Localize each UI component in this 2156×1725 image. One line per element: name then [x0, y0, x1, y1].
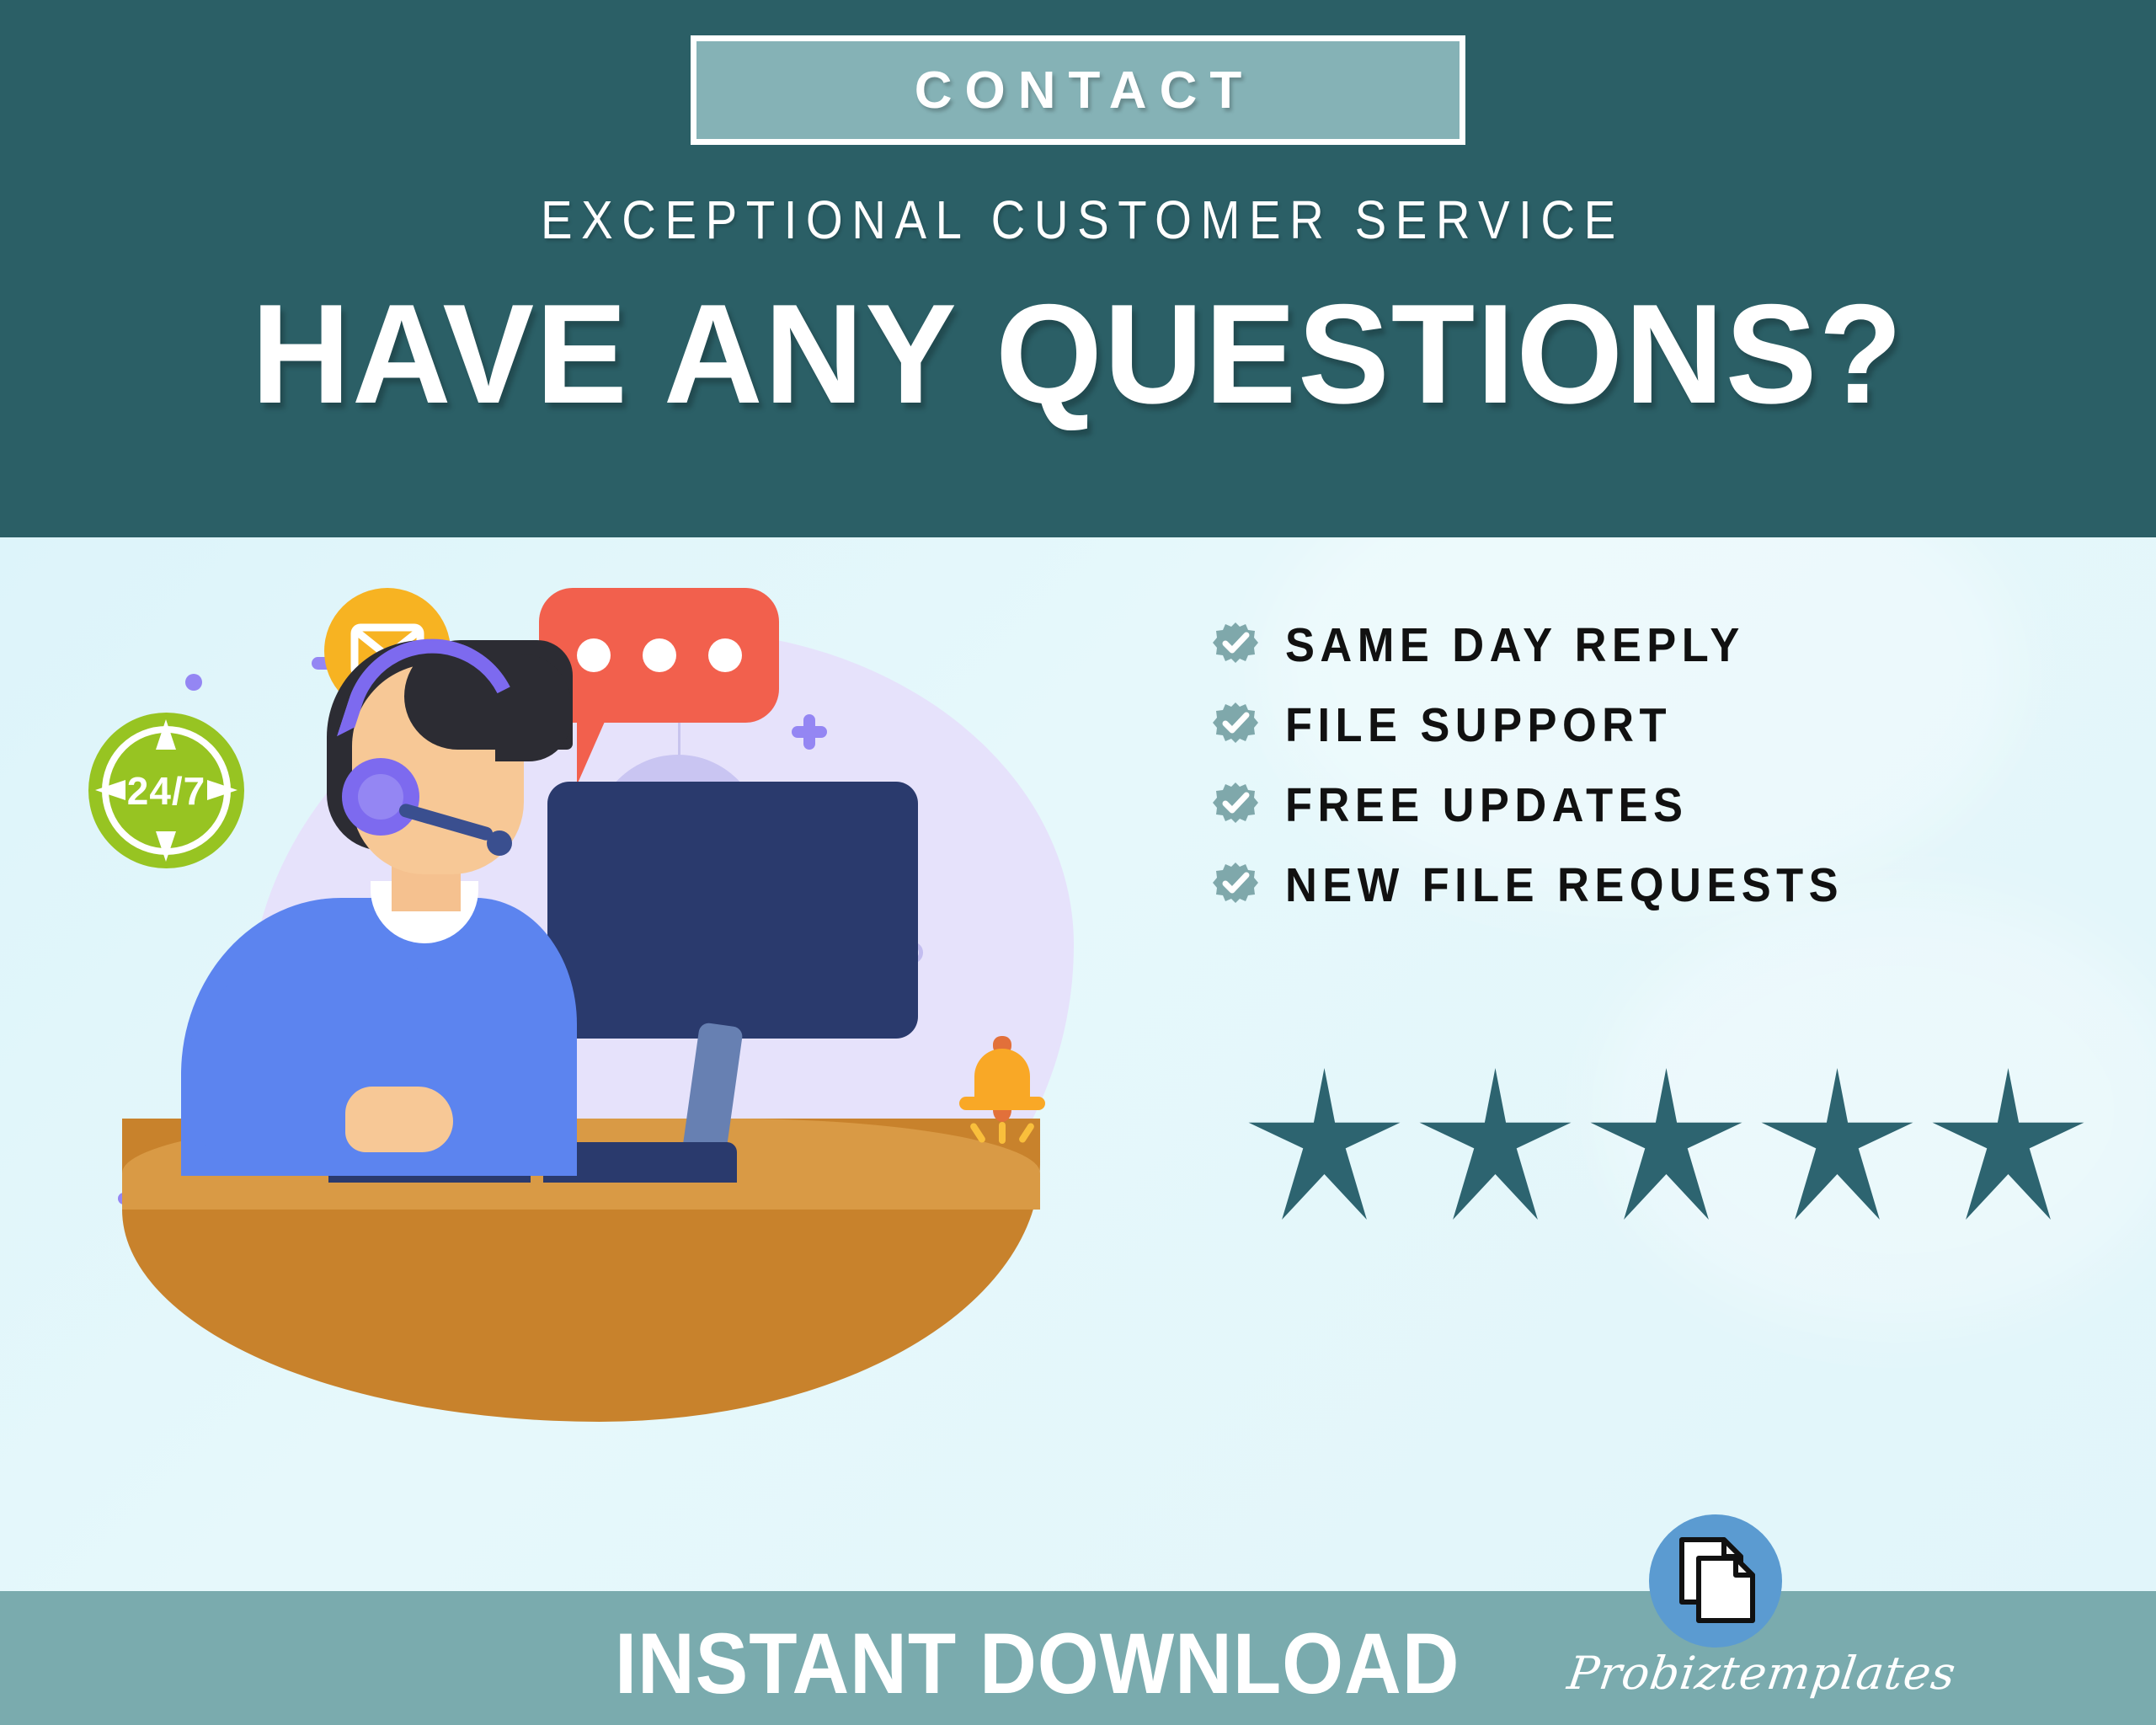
check-badge-icon — [1213, 862, 1258, 908]
feature-list: SAME DAY REPLY FILE SUPPORT FREE UPDATES… — [1213, 605, 1892, 925]
header-subtitle: EXCEPTIONAL CUSTOMER SERVICE — [531, 189, 1624, 251]
decorative-dot — [185, 674, 202, 691]
check-badge-icon — [1213, 622, 1258, 668]
documents-stack-icon — [1675, 1536, 1756, 1626]
feature-item: SAME DAY REPLY — [1213, 605, 1892, 685]
feature-label: FREE UPDATES — [1285, 777, 1688, 833]
feature-label: NEW FILE REQUESTS — [1285, 857, 1844, 913]
chat-dot — [643, 638, 676, 672]
instant-download-label: INSTANT DOWNLOAD — [615, 1615, 1460, 1713]
headset-earcup-inner — [358, 774, 403, 820]
feature-label: SAME DAY REPLY — [1285, 617, 1745, 673]
star-icon — [1759, 1068, 1915, 1220]
chat-bubble-tail — [577, 716, 607, 785]
contact-banner: CONTACT — [691, 35, 1465, 145]
star-icon — [1930, 1068, 2086, 1220]
chat-dot — [708, 638, 742, 672]
agent-hand — [345, 1087, 453, 1152]
availability-label: 24/7 — [127, 768, 206, 814]
star-icon — [1417, 1068, 1573, 1220]
brand-logo — [1649, 1514, 1782, 1648]
notification-bell-icon — [956, 1034, 1049, 1152]
page-header: CONTACT EXCEPTIONAL CUSTOMER SERVICE HAV… — [0, 0, 2156, 537]
decorative-plus-icon — [792, 714, 827, 750]
star-rating — [1246, 1068, 2086, 1220]
contact-banner-label: CONTACT — [902, 61, 1254, 120]
check-badge-icon — [1213, 782, 1258, 828]
brand-name: Probiztemplates — [1565, 1647, 1960, 1700]
feature-item: FREE UPDATES — [1213, 765, 1892, 845]
feature-label: FILE SUPPORT — [1285, 697, 1672, 753]
computer-monitor — [547, 782, 918, 1039]
chat-dot — [577, 638, 611, 672]
customer-support-illustration: 24/7 — [101, 563, 1154, 1557]
chat-bubble-icon — [539, 588, 779, 723]
feature-item: FILE SUPPORT — [1213, 685, 1892, 765]
star-icon — [1246, 1068, 1402, 1220]
headset-mic-tip — [487, 830, 512, 856]
feature-item: NEW FILE REQUESTS — [1213, 845, 1892, 925]
availability-badge: 24/7 — [88, 713, 244, 868]
star-icon — [1588, 1068, 1744, 1220]
main-content: 24/7 — [0, 537, 2156, 1591]
check-badge-icon — [1213, 702, 1258, 748]
page-title: HAVE ANY QUESTIONS? — [252, 283, 1904, 425]
